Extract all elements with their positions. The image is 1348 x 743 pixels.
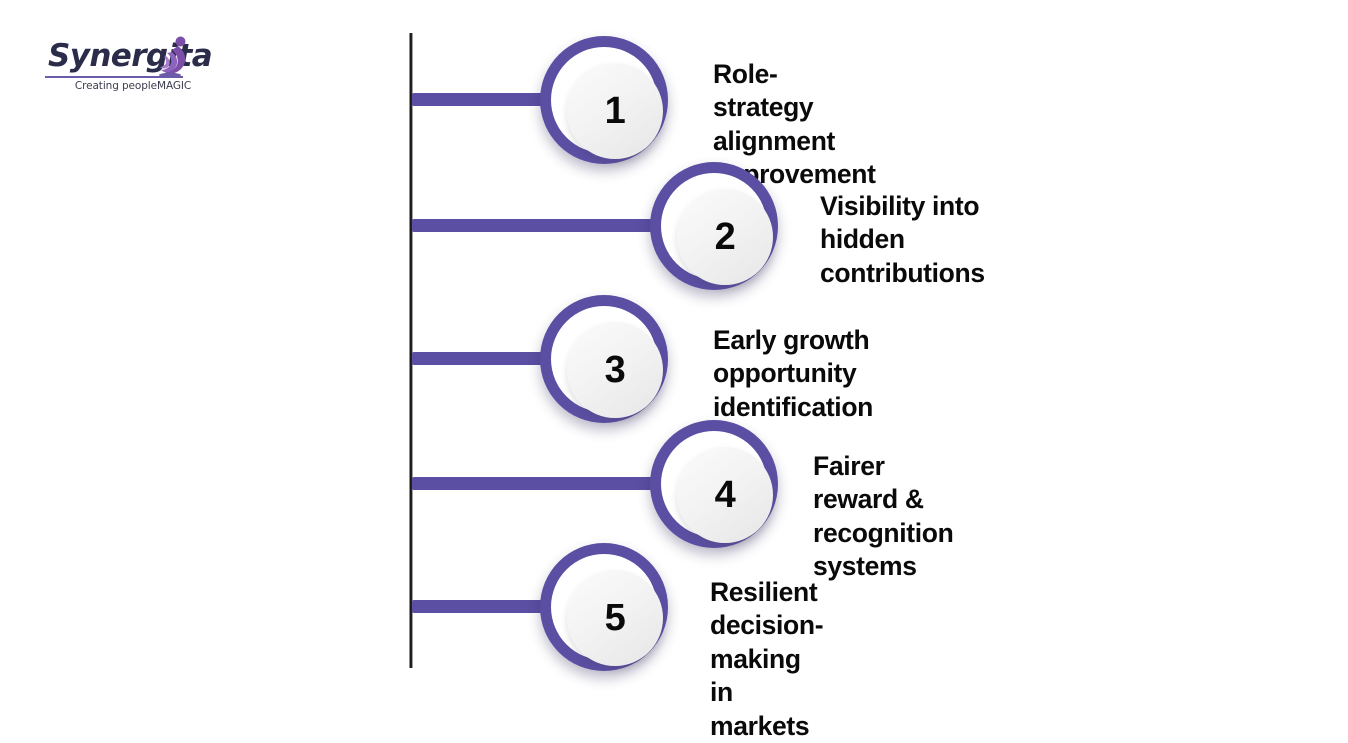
timeline-label: Early growth opportunity identification xyxy=(713,324,873,424)
timeline-node-2[interactable]: 2 xyxy=(650,162,778,290)
node-ring-gap: 2 xyxy=(661,173,767,279)
node-disc: 3 xyxy=(567,322,663,418)
node-disc: 4 xyxy=(677,447,773,543)
brand-divider xyxy=(45,76,183,78)
timeline-node-5[interactable]: 5 xyxy=(540,543,668,671)
node-disc: 2 xyxy=(677,189,773,285)
node-ring-gap: 5 xyxy=(551,554,657,660)
swirl-icon xyxy=(156,35,190,77)
node-number: 4 xyxy=(715,476,736,514)
node-number: 1 xyxy=(605,92,626,130)
timeline-connector xyxy=(412,219,660,232)
brand-tagline: Creating peopleMAGIC xyxy=(67,80,199,92)
timeline-spine xyxy=(409,33,413,668)
timeline-label: Fairer reward & recognition systems xyxy=(813,450,953,584)
node-number: 5 xyxy=(605,599,626,637)
timeline-node-1[interactable]: 1 xyxy=(540,36,668,164)
brand-logo: Synergita Creating peopleMAGIC xyxy=(48,38,198,100)
timeline-connector xyxy=(412,600,550,613)
timeline-connector xyxy=(412,93,550,106)
node-ring-gap: 4 xyxy=(661,431,767,537)
timeline-connector xyxy=(412,352,550,365)
node-number: 3 xyxy=(605,351,626,389)
node-number: 2 xyxy=(715,218,736,256)
node-disc: 1 xyxy=(567,63,663,159)
node-ring-gap: 1 xyxy=(551,47,657,153)
timeline-label: Resilient decision-making in markets xyxy=(710,576,823,743)
timeline-connector xyxy=(412,477,660,490)
timeline-node-3[interactable]: 3 xyxy=(540,295,668,423)
timeline-node-4[interactable]: 4 xyxy=(650,420,778,548)
node-disc: 5 xyxy=(567,570,663,666)
node-ring-gap: 3 xyxy=(551,306,657,412)
timeline-label: Visibility into hidden contributions xyxy=(820,190,985,290)
